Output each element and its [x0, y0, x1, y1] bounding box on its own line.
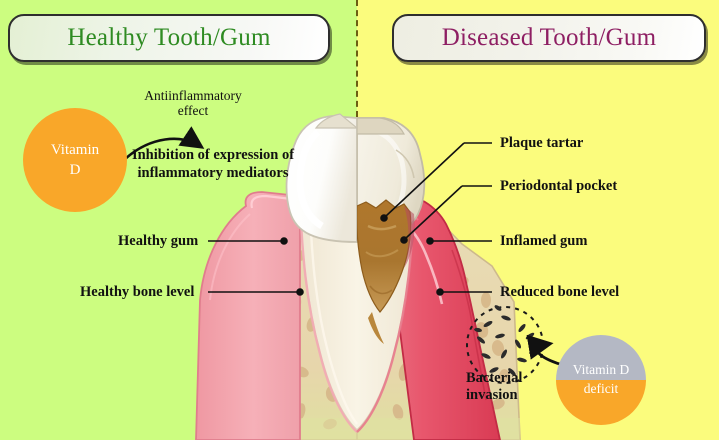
header-pill-diseased: Diseased Tooth/Gum	[392, 14, 706, 62]
label-healthy-gum: Healthy gum	[118, 233, 198, 249]
label-reduced-bone-level: Reduced bone level	[500, 284, 619, 300]
header-pill-healthy: Healthy Tooth/Gum	[8, 14, 330, 62]
antiinflammatory-line2: effect	[112, 103, 274, 118]
vitamin-d-deficit-line2: deficit	[584, 379, 618, 398]
label-healthy-bone-level: Healthy bone level	[80, 284, 194, 300]
vitamin-d-line2: D	[70, 160, 81, 180]
label-inflamed-gum: Inflamed gum	[500, 233, 587, 249]
diagram-canvas: Healthy Tooth/Gum Diseased Tooth/Gum Vit…	[0, 0, 719, 440]
label-periodontal-pocket: Periodontal pocket	[500, 178, 617, 194]
bacterial-line1: Bacterial	[466, 370, 576, 387]
label-plaque-tartar: Plaque tartar	[500, 135, 583, 151]
header-title-diseased: Diseased Tooth/Gum	[442, 24, 657, 52]
antiinflammatory-line1: Antiinflammatory	[112, 88, 274, 103]
vitamin-d-deficit-line1: Vitamin D	[573, 360, 630, 379]
vitamin-d-line1: Vitamin	[51, 140, 99, 160]
antiinflammatory-effect-label: Antiinflammatory effect	[112, 88, 274, 118]
label-bacterial-invasion: Bacterial invasion	[466, 370, 576, 404]
bacterial-line2: invasion	[466, 387, 576, 404]
inhibition-line1: Inhibition of expression of	[128, 146, 298, 164]
vitamin-d-circle: Vitamin D	[23, 108, 127, 212]
header-title-healthy: Healthy Tooth/Gum	[67, 24, 270, 52]
inhibition-line2: inflammatory mediators	[128, 164, 298, 182]
inhibition-effect-label: Inhibition of expression of inflammatory…	[128, 146, 298, 182]
